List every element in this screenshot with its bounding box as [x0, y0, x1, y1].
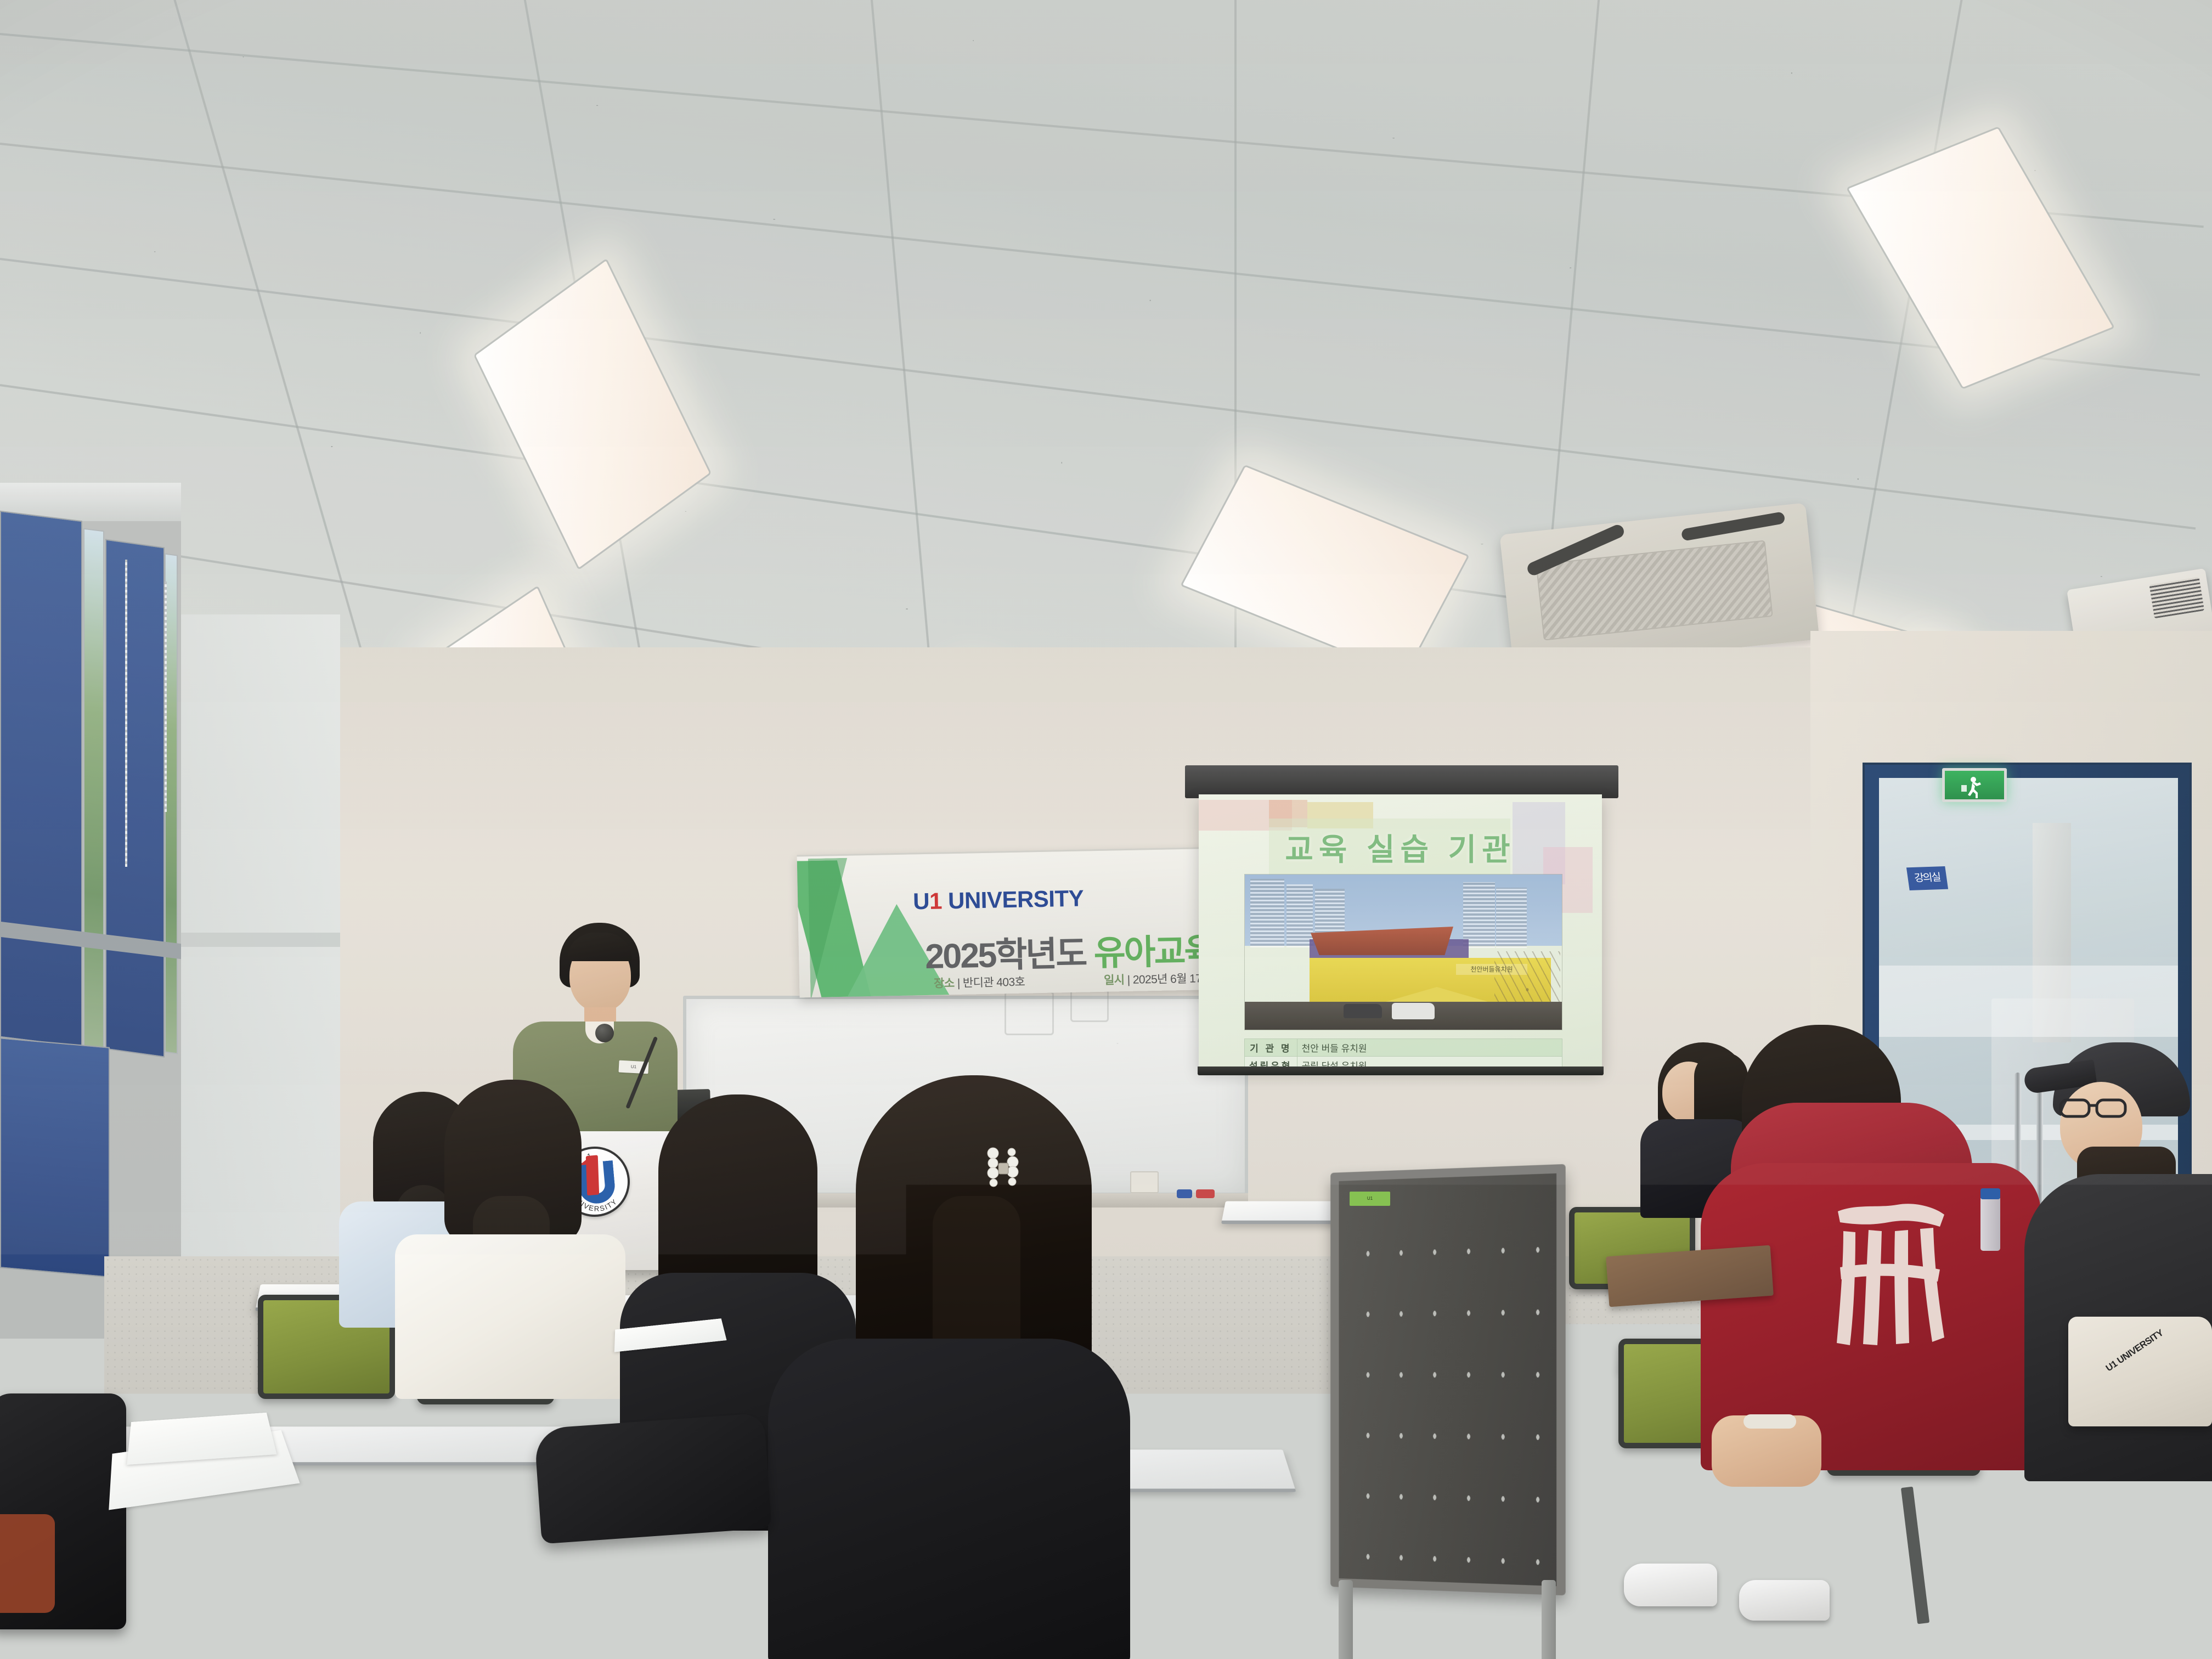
window-blind[interactable]	[105, 539, 165, 1057]
exit-runner-glyph	[1960, 776, 1985, 799]
slide-photo-kindergarten: 천안버들유치원	[1244, 874, 1562, 1030]
eyeglasses-icon	[2058, 1094, 2130, 1120]
folding-table-panel[interactable]	[1330, 1164, 1566, 1595]
whiteboard-marker[interactable]	[1177, 1189, 1192, 1198]
door-frosted-band	[1879, 966, 2178, 1037]
wall-power-outlet[interactable]	[1130, 1171, 1159, 1193]
emblem-one-shape	[586, 1155, 599, 1195]
ac-vent	[1681, 511, 1786, 541]
banner-logo-suffix: UNIVERSITY	[941, 885, 1084, 913]
banner-date-label: 일시	[1104, 974, 1125, 987]
whiteboard-marker[interactable]	[1196, 1189, 1215, 1198]
chair[interactable]	[247, 1618, 417, 1659]
backpack-side-pocket	[0, 1514, 55, 1613]
table-row: 기 관 명 천안 버들 유치원	[1245, 1039, 1562, 1057]
banner-place-meta: 장소 | 반디관 403호	[934, 973, 1025, 991]
banner-university-logo: U1 UNIVERSITY	[913, 885, 1084, 915]
blind-chain-pull[interactable]	[125, 560, 127, 867]
blind-chain-pull[interactable]	[165, 582, 167, 812]
banner-logo-one: 1	[929, 888, 943, 913]
pearl-hair-clip	[983, 1147, 1025, 1190]
emergency-exit-icon	[1942, 768, 2007, 802]
panel-perforation-pattern	[1352, 1218, 1543, 1569]
panel-leg	[1339, 1580, 1353, 1659]
sneaker	[1739, 1580, 1830, 1621]
student-top	[395, 1234, 625, 1399]
slide-photo-apartment	[1496, 888, 1527, 948]
window-blind[interactable]	[0, 511, 82, 1047]
tote-bag-print: U1 UNIVERSITY	[2104, 1328, 2165, 1374]
classroom-photo: U1 UNIVERSITY 2025학년도 유아교육과 학 장소 | 반디관 4…	[0, 0, 2212, 1659]
slide-title: 교육 실습 기관	[1199, 825, 1602, 870]
slide-photo-car	[1344, 1004, 1382, 1018]
tote-bag[interactable]: U1 UNIVERSITY	[2068, 1317, 2212, 1426]
slide-photo-apartment	[1250, 879, 1284, 947]
backpack[interactable]	[534, 1413, 772, 1544]
banner-place-label: 장소	[934, 977, 955, 990]
wristband	[1743, 1414, 1796, 1429]
projection-screen-housing	[1185, 765, 1618, 798]
slide-info-table: 기 관 명 천안 버들 유치원 설립유형 공립 단설 유치원 소 재 지 충청남…	[1244, 1039, 1562, 1069]
water-bottle[interactable]	[1980, 1196, 2000, 1251]
slide-photo-apartment	[1463, 882, 1495, 948]
classroom-sign: 강의실	[1906, 866, 1948, 890]
water-bottle-cap	[1980, 1188, 2000, 1199]
slide-photo-car	[1392, 1003, 1435, 1019]
table-value: 천안 버들 유치원	[1297, 1039, 1562, 1057]
panel-leg	[1542, 1580, 1556, 1659]
window-glass	[83, 528, 104, 1052]
hoodie-graphic-print	[1827, 1201, 1953, 1355]
projection-screen-weight-bar	[1198, 1066, 1604, 1075]
microphone-head[interactable]	[595, 1024, 614, 1042]
banner-place-value: 반디관 403호	[963, 976, 1025, 990]
asset-sticker: U1	[1350, 1192, 1390, 1206]
banner-title-year: 2025학년도	[925, 934, 1094, 976]
pencil-case-zipper-tab	[329, 1307, 348, 1319]
student-top	[768, 1339, 1130, 1659]
table-key: 기 관 명	[1245, 1039, 1297, 1057]
projector-vent	[2149, 577, 2205, 619]
window-blind[interactable]	[0, 1037, 110, 1277]
slide-photo-apartment	[1286, 884, 1313, 947]
projection-screen: 교육 실습 기관 천안버들유치원 기 관 명 천안 버들 유치원 설	[1199, 794, 1602, 1069]
banner-logo-u: U	[913, 888, 930, 915]
sneaker	[1624, 1564, 1717, 1606]
